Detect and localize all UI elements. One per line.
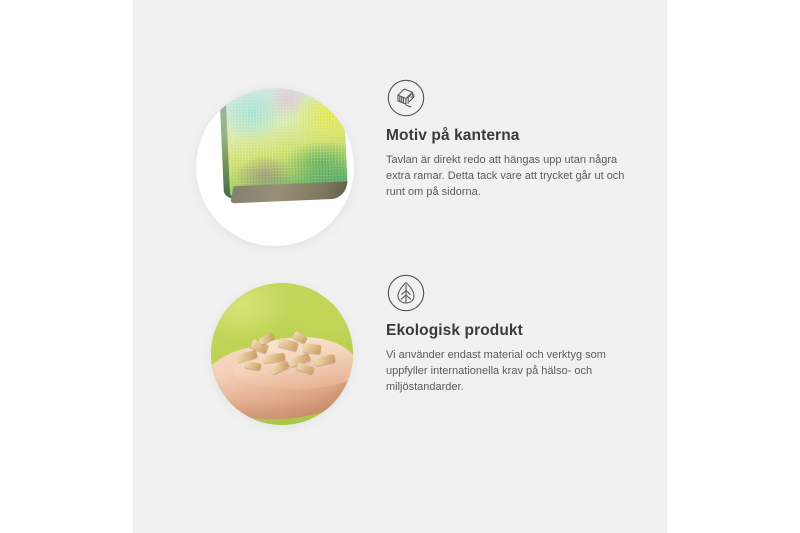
feature-block-eco-product: Ekologisk produkt Vi använder endast mat… (133, 273, 667, 453)
grass-background (211, 283, 353, 425)
hands-holding-wood-chips-photo (211, 283, 353, 425)
canvas-edge-wrap-icon (386, 78, 426, 118)
feature-2-text-column: Ekologisk produkt Vi använder endast mat… (386, 273, 664, 395)
wood-chips-pile (235, 334, 339, 378)
product-feature-banner: Motiv på kanterna Tavlan är direkt redo … (0, 0, 800, 533)
feature-block-canvas-edges: Motiv på kanterna Tavlan är direkt redo … (133, 78, 667, 258)
feature-1-description: Tavlan är direkt redo att hängas upp uta… (386, 152, 638, 201)
leaf-icon (386, 273, 426, 313)
canvas-front-face (225, 88, 348, 196)
feature-2-description: Vi använder endast material och verktyg … (386, 347, 638, 396)
feature-1-text-column: Motiv på kanterna Tavlan är direkt redo … (386, 78, 664, 200)
canvas-print-corner-photo (196, 88, 354, 246)
canvas-artwork (219, 88, 349, 219)
feature-2-title: Ekologisk produkt (386, 322, 664, 341)
feature-1-title: Motiv på kanterna (386, 127, 664, 146)
